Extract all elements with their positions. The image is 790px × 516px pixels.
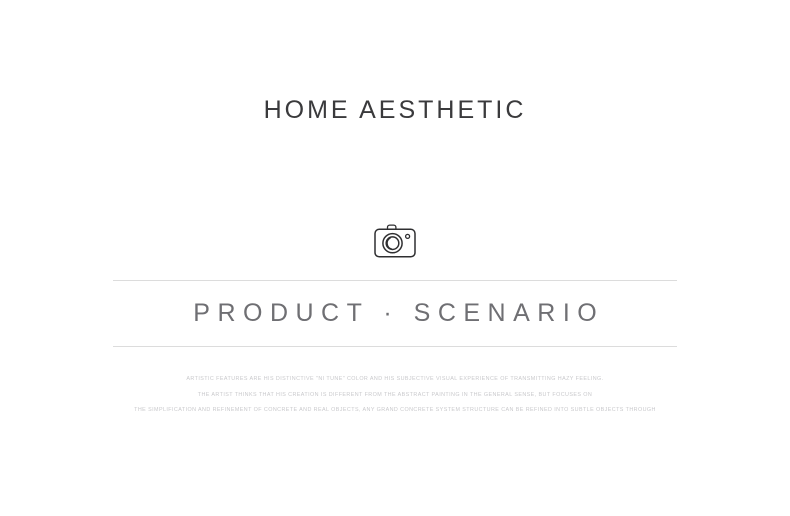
description-line: ARTISTIC FEATURES ARE HIS DISTINCTIVE "N… xyxy=(0,371,790,388)
page-title-block: HOME AESTHETIC xyxy=(0,78,790,142)
section-heading-band: PRODUCT · SCENARIO xyxy=(113,280,677,347)
page-root: HOME AESTHETIC PRODUCT · SCENARIO ARTIS xyxy=(0,0,790,516)
section-heading: PRODUCT · SCENARIO xyxy=(186,299,604,328)
page-title: HOME AESTHETIC xyxy=(264,95,527,125)
camera-icon-block xyxy=(0,222,790,267)
description-paragraph: ARTISTIC FEATURES ARE HIS DISTINCTIVE "N… xyxy=(0,372,790,419)
description-line: THE SIMPLIFICATION AND REFINEMENT OF CON… xyxy=(0,403,790,420)
camera-icon xyxy=(372,222,418,262)
